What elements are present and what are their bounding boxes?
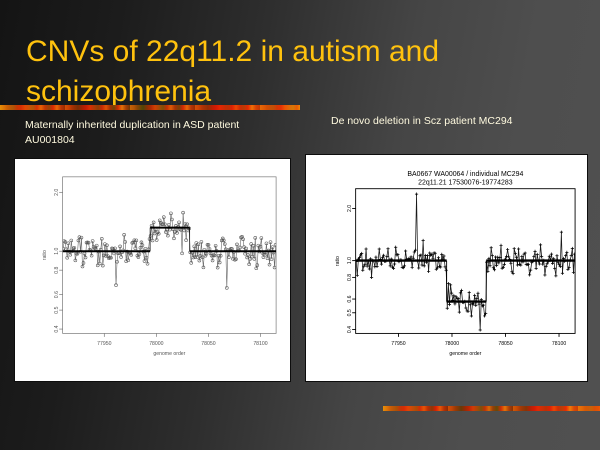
- caption-right-figure: De novo deletion in Scz patient MC294: [331, 114, 581, 129]
- left-plot-svg: 0.40.50.60.81.02.077950780007805078100ge…: [15, 159, 290, 381]
- svg-text:2.0: 2.0: [54, 189, 60, 196]
- svg-text:genome order: genome order: [153, 351, 185, 357]
- svg-text:1.0: 1.0: [54, 248, 60, 255]
- caption-left-figure: Maternally inherited duplication in ASD …: [25, 118, 290, 148]
- svg-text:ratio: ratio: [335, 256, 341, 266]
- svg-text:0.6: 0.6: [54, 291, 60, 298]
- svg-text:78000: 78000: [445, 341, 459, 347]
- svg-text:0.4: 0.4: [347, 326, 353, 333]
- svg-text:0.4: 0.4: [54, 325, 60, 332]
- figure-right-deletion-plot: 0.40.50.60.81.02.077950780007805078100ge…: [305, 154, 588, 382]
- page-title: CNVs of 22q11.2 in autism and schizophre…: [26, 32, 571, 112]
- svg-text:BA0667 WA00064 / individual MC: BA0667 WA00064 / individual MC294: [407, 171, 523, 178]
- svg-text:0.5: 0.5: [54, 306, 60, 313]
- right-plot-svg: 0.40.50.60.81.02.077950780007805078100ge…: [306, 155, 587, 381]
- svg-text:0.6: 0.6: [347, 295, 353, 302]
- svg-text:0.5: 0.5: [347, 309, 353, 316]
- svg-text:22q11.21 17530076-19774283: 22q11.21 17530076-19774283: [418, 180, 513, 187]
- svg-text:ratio: ratio: [42, 250, 48, 260]
- svg-text:0.8: 0.8: [347, 274, 353, 281]
- svg-text:1.0: 1.0: [347, 257, 353, 264]
- svg-text:genome order: genome order: [449, 351, 481, 357]
- svg-text:78050: 78050: [201, 341, 215, 347]
- figure-left-duplication-plot: 0.40.50.60.81.02.077950780007805078100ge…: [14, 158, 291, 382]
- svg-text:78050: 78050: [498, 341, 512, 347]
- svg-text:2.0: 2.0: [347, 205, 353, 212]
- decorative-bar-bottom: [383, 406, 600, 411]
- svg-text:0.8: 0.8: [54, 266, 60, 273]
- decorative-bar-top: [0, 105, 300, 110]
- svg-text:77950: 77950: [391, 341, 405, 347]
- svg-text:78100: 78100: [253, 341, 267, 347]
- svg-text:78100: 78100: [552, 341, 566, 347]
- svg-text:78000: 78000: [149, 341, 163, 347]
- svg-text:77950: 77950: [97, 341, 111, 347]
- slide-canvas: CNVs of 22q11.2 in autism and schizophre…: [0, 0, 600, 450]
